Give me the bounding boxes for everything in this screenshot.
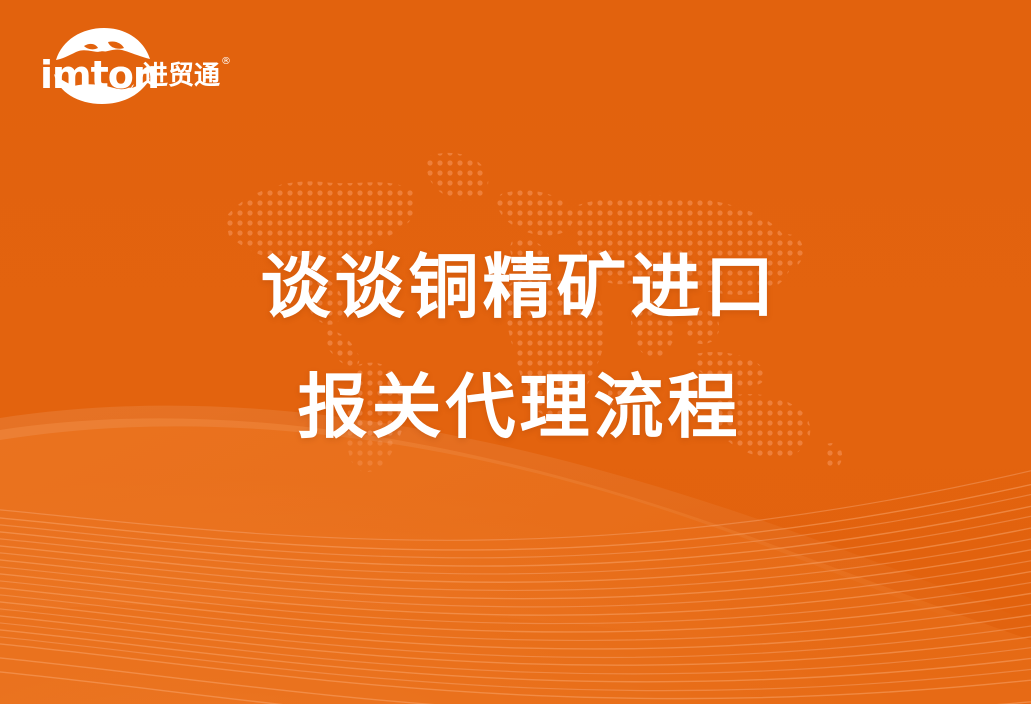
brand-logo[interactable]: imton 进贸通 ® imton 进贸通 [38, 26, 238, 108]
title-line-1: 谈谈铜精矿进口 [8, 252, 1031, 322]
globe-dragon-mark: imton 进贸通 ® [38, 26, 238, 108]
title-line-2: 报关代理流程 [8, 372, 1031, 442]
logo-chinese-text: 进贸通 [142, 61, 220, 91]
registered-trademark-icon: ® [221, 56, 231, 67]
slide-canvas: imton 进贸通 ® imton 进贸通 谈谈铜精矿进口 报关代理流程 [0, 0, 1031, 704]
page-title: 谈谈铜精矿进口 报关代理流程 [0, 252, 1031, 442]
